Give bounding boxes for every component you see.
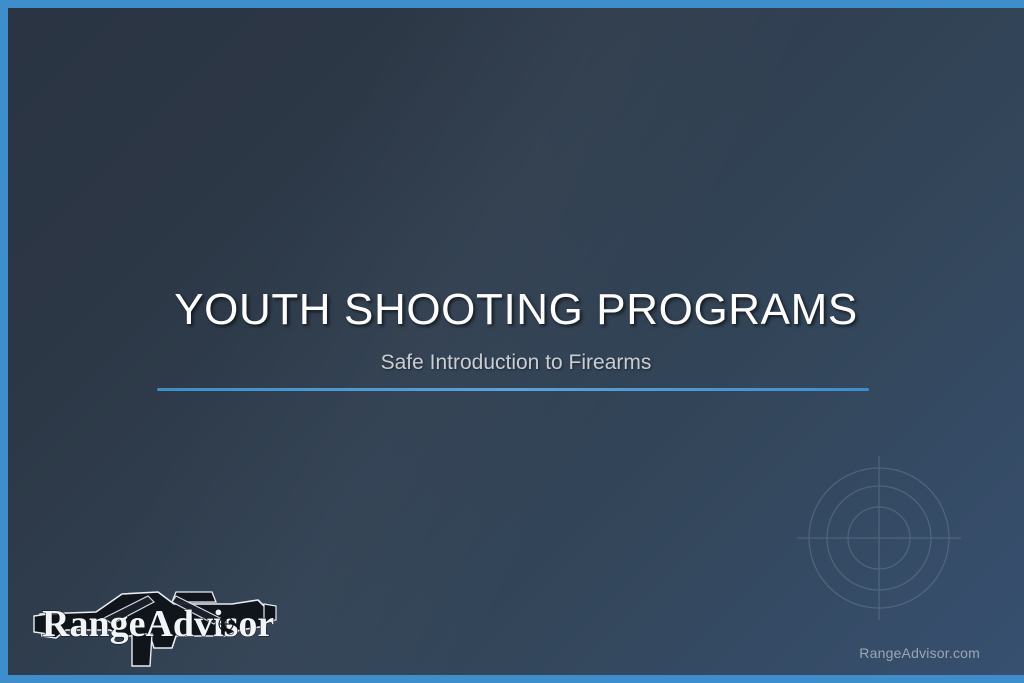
brand-logo: RangeAdvisor — [26, 574, 278, 670]
brand-wordmark: RangeAdvisor — [42, 603, 274, 645]
page-title: YOUTH SHOOTING PROGRAMS — [8, 284, 1024, 336]
crosshair-target-icon — [771, 430, 987, 646]
title-block: YOUTH SHOOTING PROGRAMS Safe Introductio… — [8, 284, 1024, 375]
accent-divider — [157, 388, 869, 391]
reticle-dot-icon — [219, 617, 233, 631]
footer-url: RangeAdvisor.com — [859, 645, 980, 661]
slide-canvas: YOUTH SHOOTING PROGRAMS Safe Introductio… — [8, 8, 1024, 675]
page-subtitle: Safe Introduction to Firearms — [8, 350, 1024, 375]
presentation-slide: YOUTH SHOOTING PROGRAMS Safe Introductio… — [0, 0, 1024, 683]
